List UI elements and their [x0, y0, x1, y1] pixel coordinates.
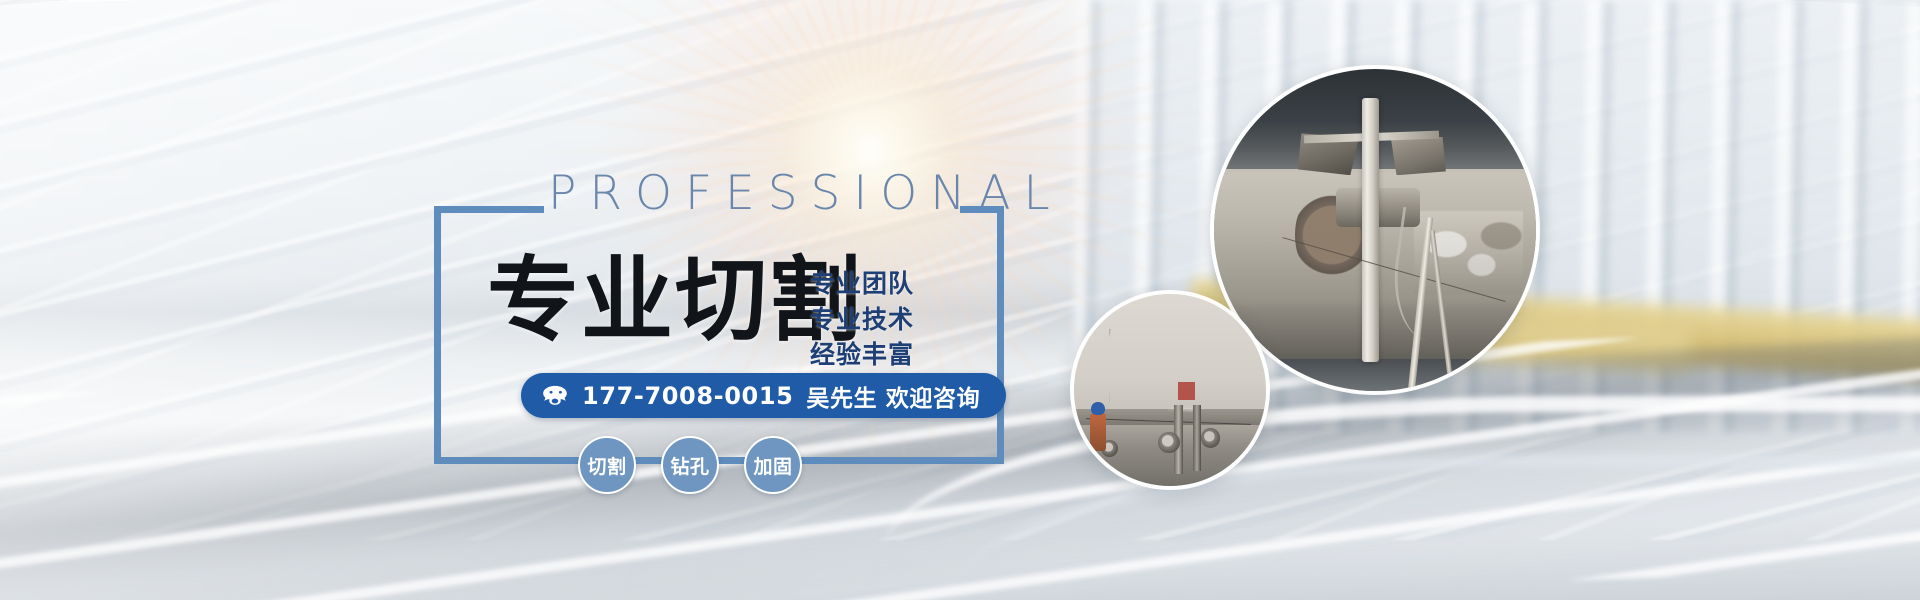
crew-photo-worker-body: [1090, 413, 1105, 451]
feature-item-3: 经验丰富: [810, 337, 914, 373]
feature-item-1: 专业团队: [810, 266, 914, 302]
service-tag-reinforcement[interactable]: 加固: [744, 436, 802, 494]
feature-item-2: 专业技术: [810, 302, 914, 338]
crew-photo-wall-cracks: [1109, 329, 1167, 402]
machine-photo-mast-column: [1362, 98, 1379, 362]
page-title: 专业切割: [487, 255, 863, 347]
feature-list: 专业团队 专业技术 经验丰富: [810, 266, 914, 373]
crew-photo-red-marker: [1178, 382, 1195, 399]
contact-phone-bar[interactable]: 177-7008-0015 吴先生 欢迎咨询: [521, 373, 1006, 418]
machine-photo-chute-right: [1391, 137, 1446, 176]
service-tag-drilling[interactable]: 钻孔: [661, 436, 719, 494]
crew-photo-rig-frame-secondary: [1193, 405, 1201, 470]
contact-person: 吴先生 欢迎咨询: [806, 379, 980, 413]
bracket-top-left-stub: [434, 206, 544, 213]
phone-number: 177-7008-0015: [582, 382, 793, 410]
bracket-left-edge: [434, 206, 441, 464]
crew-photo-pulley-wheel-secondary: [1201, 428, 1220, 447]
service-tag-cutting[interactable]: 切割: [578, 436, 636, 494]
crew-photo-worker-helmet: [1091, 402, 1104, 415]
bracket-right-edge: [997, 206, 1004, 464]
crew-photo-pulley-wheel: [1158, 432, 1179, 453]
telephone-icon: [541, 384, 569, 408]
eyebrow-text: PROFESSIONAL: [548, 170, 1063, 217]
promo-banner: PROFESSIONAL 专业切割 专业团队 专业技术 经验丰富 177-700…: [0, 0, 1920, 600]
wire-saw-crew-image: [1074, 294, 1266, 486]
service-tag-list: 切割 钻孔 加固: [578, 436, 802, 494]
photo-wire-saw-crew: [1070, 290, 1270, 490]
